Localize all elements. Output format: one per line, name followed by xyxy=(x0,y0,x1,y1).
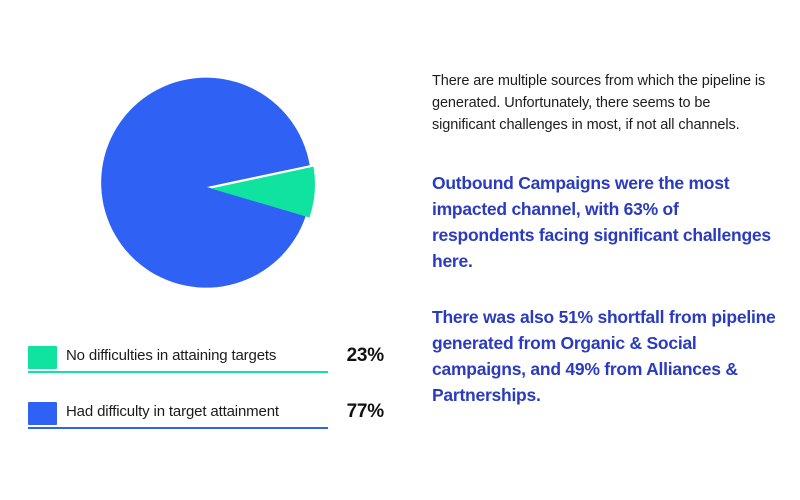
legend-percent-no-difficulties: 23% xyxy=(337,345,384,369)
legend-underline-blue xyxy=(28,427,328,429)
slide-root: No difficulties in attaining targets 23%… xyxy=(0,0,800,500)
commentary-highlight-outbound: Outbound Campaigns were the most impacte… xyxy=(432,170,777,274)
commentary-intro-paragraph: There are multiple sources from which th… xyxy=(432,70,777,136)
chart-legend: No difficulties in attaining targets 23%… xyxy=(28,340,384,430)
pie-chart-svg xyxy=(95,70,325,305)
legend-row-had-difficulty[interactable]: Had difficulty in target attainment 77% xyxy=(28,396,384,430)
legend-swatch-green xyxy=(28,346,57,369)
commentary-highlight-organic-social: There was also 51% shortfall from pipeli… xyxy=(432,304,777,408)
pie-chart xyxy=(95,70,325,305)
legend-percent-had-difficulty: 77% xyxy=(337,401,384,425)
legend-underline-green xyxy=(28,371,328,373)
legend-swatch-blue xyxy=(28,402,57,425)
commentary-column: There are multiple sources from which th… xyxy=(432,70,777,408)
legend-label-had-difficulty: Had difficulty in target attainment xyxy=(57,403,337,423)
chart-column: No difficulties in attaining targets 23%… xyxy=(0,0,400,500)
legend-row-no-difficulties[interactable]: No difficulties in attaining targets 23% xyxy=(28,340,384,374)
legend-label-no-difficulties: No difficulties in attaining targets xyxy=(57,347,337,367)
